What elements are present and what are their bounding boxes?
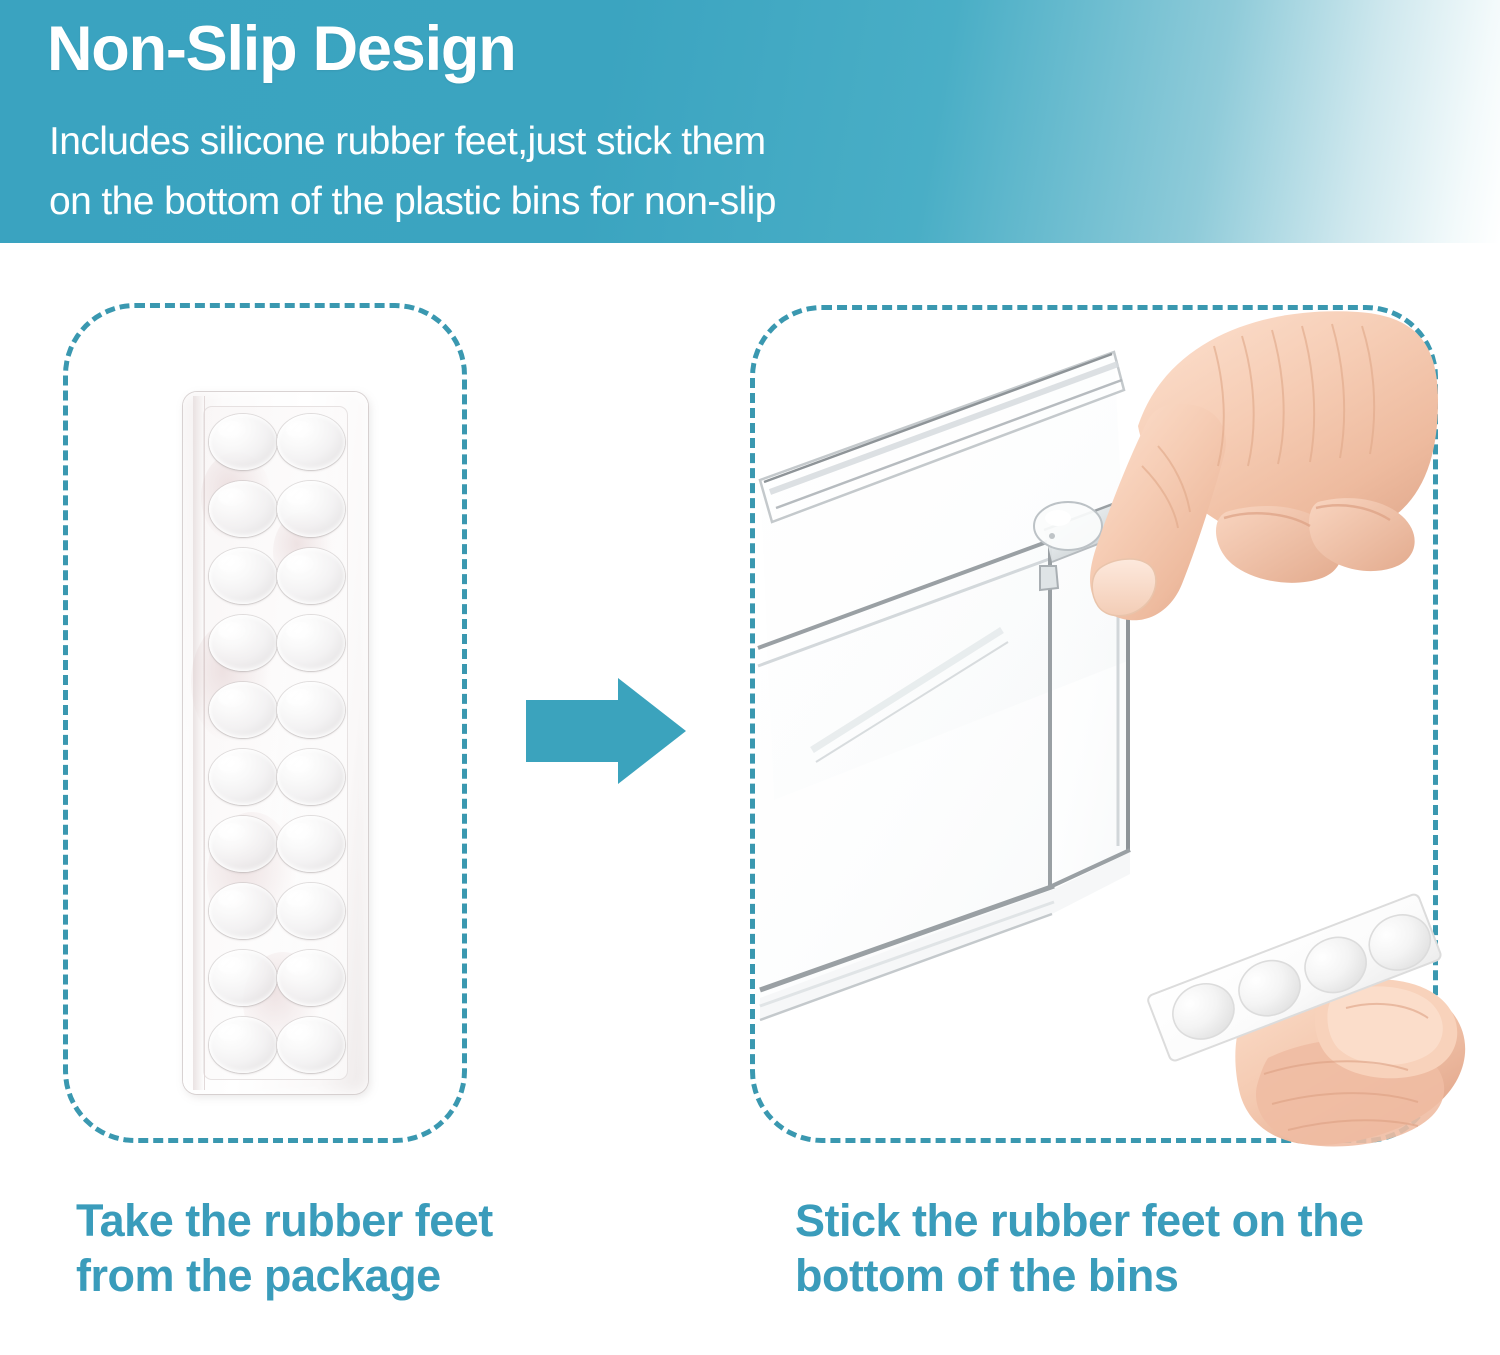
rubber-foot <box>277 414 345 470</box>
rubber-foot <box>209 749 277 805</box>
rubber-foot <box>277 548 345 604</box>
rubber-foot <box>277 816 345 872</box>
rubber-foot <box>277 481 345 537</box>
rubber-foot <box>277 749 345 805</box>
rubber-foot <box>277 615 345 671</box>
step-1-caption: Take the rubber feet from the package <box>76 1194 506 1304</box>
hand-holding-feet-strip <box>1140 862 1500 1162</box>
rubber-foot <box>277 950 345 1006</box>
rubber-foot <box>209 816 277 872</box>
header-banner: Non-Slip Design Includes silicone rubber… <box>0 0 1500 243</box>
process-arrow-icon <box>526 676 686 786</box>
rubber-foot <box>209 950 277 1006</box>
rubber-foot <box>209 682 277 738</box>
rubber-foot <box>209 883 277 939</box>
rubber-foot <box>209 615 277 671</box>
header-subtitle-line-2: on the bottom of the plastic bins for no… <box>49 180 776 224</box>
rubber-foot <box>209 414 277 470</box>
page-title: Non-Slip Design <box>47 16 516 82</box>
blister-spine <box>193 396 205 1090</box>
hand-pressing-foot <box>1018 306 1438 646</box>
step-2-caption: Stick the rubber feet on the bottom of t… <box>795 1194 1455 1304</box>
rubber-foot <box>277 682 345 738</box>
rubber-foot <box>277 883 345 939</box>
rubber-feet-blister-package <box>183 392 368 1094</box>
rubber-foot <box>277 1017 345 1073</box>
rubber-foot <box>209 1017 277 1073</box>
rubber-foot <box>209 548 277 604</box>
rubber-foot <box>209 481 277 537</box>
header-subtitle-line-1: Includes silicone rubber feet,just stick… <box>49 120 766 164</box>
